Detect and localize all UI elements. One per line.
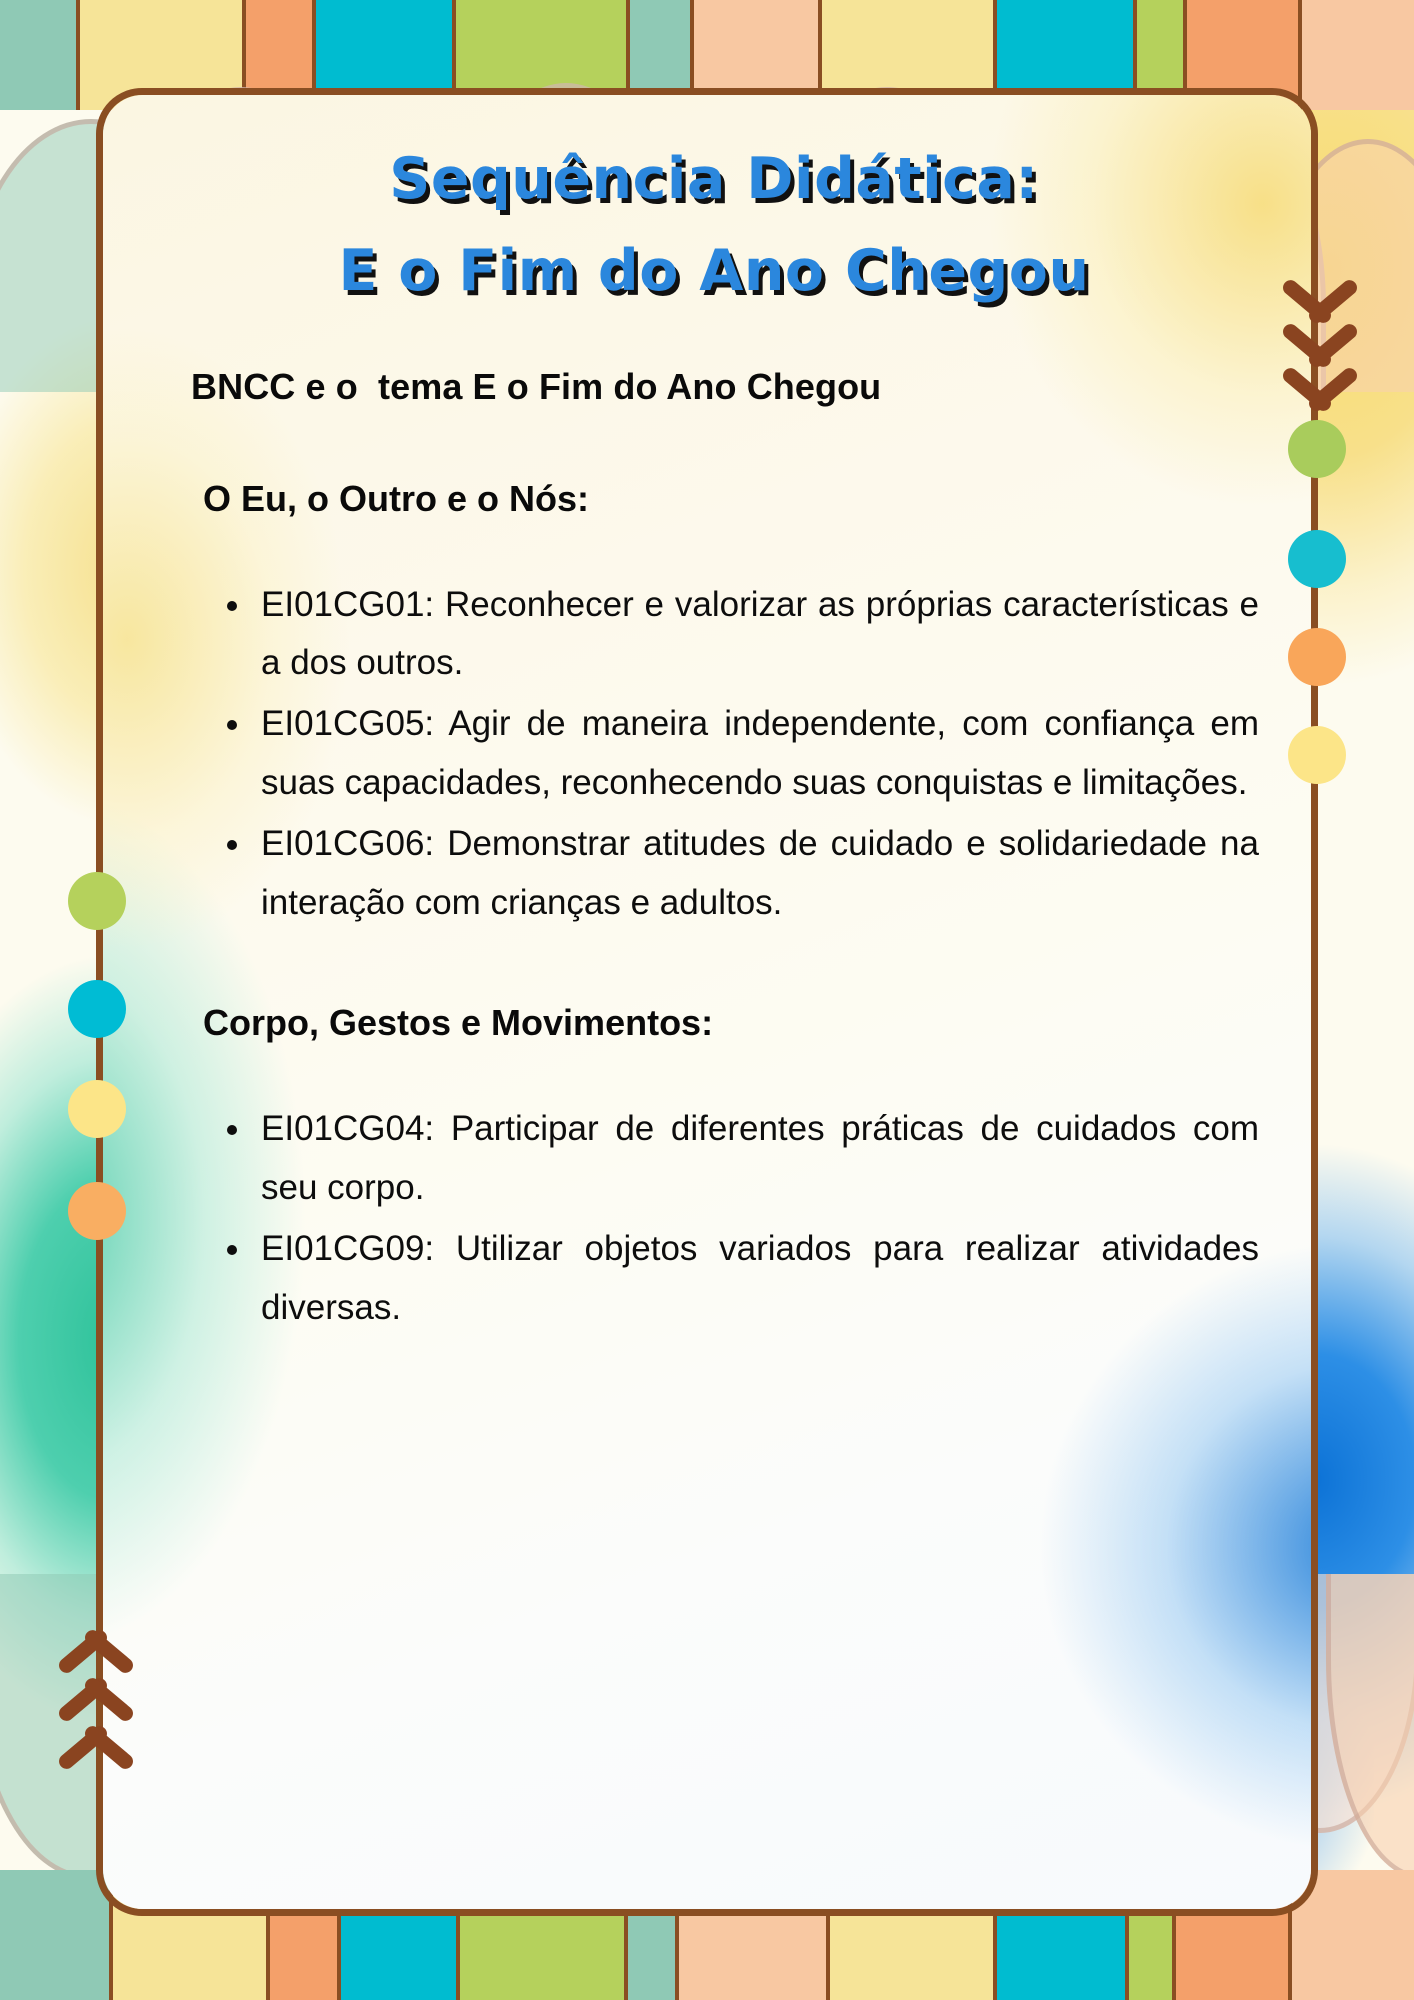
left-frame-dot-1 [68, 980, 126, 1038]
left-frame-dot-3 [68, 1182, 126, 1240]
objectives-list-1: EI01CG04: Participar de diferentes práti… [163, 1100, 1265, 1337]
poster-page: Sequência Didática: E o Fim do Ano Chego… [0, 0, 1414, 2000]
content-card: Sequência Didática: E o Fim do Ano Chego… [96, 88, 1318, 1916]
stripe-0 [0, 1870, 113, 2000]
list-item: EI01CG04: Participar de diferentes práti… [261, 1100, 1259, 1218]
left-frame-dot-0 [68, 872, 126, 930]
sections-container: O Eu, o Outro e o Nós:EI01CG01: Reconhec… [163, 478, 1265, 1338]
bottom-arch-11 [1326, 1574, 1414, 1879]
stripe-0 [0, 0, 80, 110]
page-subtitle: BNCC e o tema E o Fim do Ano Chegou [191, 366, 1265, 408]
right-frame-dot-1 [1288, 530, 1346, 588]
page-title: Sequência Didática: E o Fim do Ano Chego… [163, 133, 1265, 318]
list-item: EI01CG05: Agir de maneira independente, … [261, 695, 1259, 813]
left-frame-dot-2 [68, 1080, 126, 1138]
right-frame-dot-3 [1288, 726, 1346, 784]
chevron-down-stroke-2 [1274, 356, 1366, 448]
list-item: EI01CG01: Reconhecer e valorizar as próp… [261, 576, 1259, 694]
card-content: Sequência Didática: E o Fim do Ano Chego… [103, 95, 1311, 1340]
chevron-down-icon [1258, 268, 1378, 478]
right-frame-dot-2 [1288, 628, 1346, 686]
list-item: EI01CG06: Demonstrar atitudes de cuidado… [261, 815, 1259, 933]
section-heading-1: Corpo, Gestos e Movimentos: [203, 1002, 1265, 1044]
objectives-list-0: EI01CG01: Reconhecer e valorizar as próp… [163, 576, 1265, 933]
list-item: EI01CG09: Utilizar objetos variados para… [261, 1220, 1259, 1338]
chevron-up-stroke-2 [50, 1714, 142, 1806]
chevron-up-icon [34, 1618, 164, 1838]
section-heading-0: O Eu, o Outro e o Nós: [203, 478, 1265, 520]
stripe-11 [1302, 0, 1414, 110]
content-card-surface: Sequência Didática: E o Fim do Ano Chego… [103, 95, 1311, 1909]
